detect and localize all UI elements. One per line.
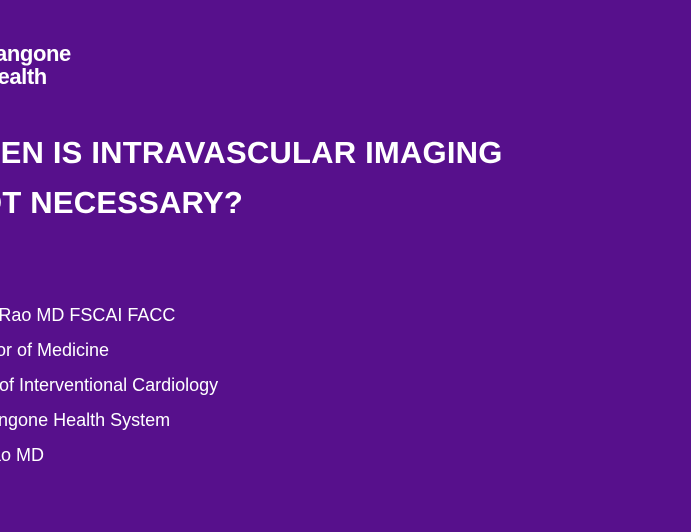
presenter-name: V. Rao MD FSCAI FACC bbox=[0, 298, 678, 333]
presenter-title-director: or of Interventional Cardiology bbox=[0, 368, 678, 403]
presentation-slide: Langone Health HEN IS INTRAVASCULAR IMAG… bbox=[0, 0, 691, 532]
presenter-handle: Rao MD bbox=[0, 438, 678, 473]
slide-title-line-2: OT NECESSARY? bbox=[0, 178, 691, 228]
nyu-langone-health-logo: Langone Health bbox=[0, 42, 112, 88]
presenter-institution: Langone Health System bbox=[0, 403, 678, 438]
slide-title: HEN IS INTRAVASCULAR IMAGING OT NECESSAR… bbox=[0, 128, 691, 228]
presenter-title-professor: ssor of Medicine bbox=[0, 333, 678, 368]
logo-line-health: Health bbox=[0, 65, 112, 88]
presenter-byline: V. Rao MD FSCAI FACC ssor of Medicine or… bbox=[0, 298, 678, 473]
slide-title-line-1: HEN IS INTRAVASCULAR IMAGING bbox=[0, 128, 691, 178]
logo-line-langone: Langone bbox=[0, 42, 112, 65]
